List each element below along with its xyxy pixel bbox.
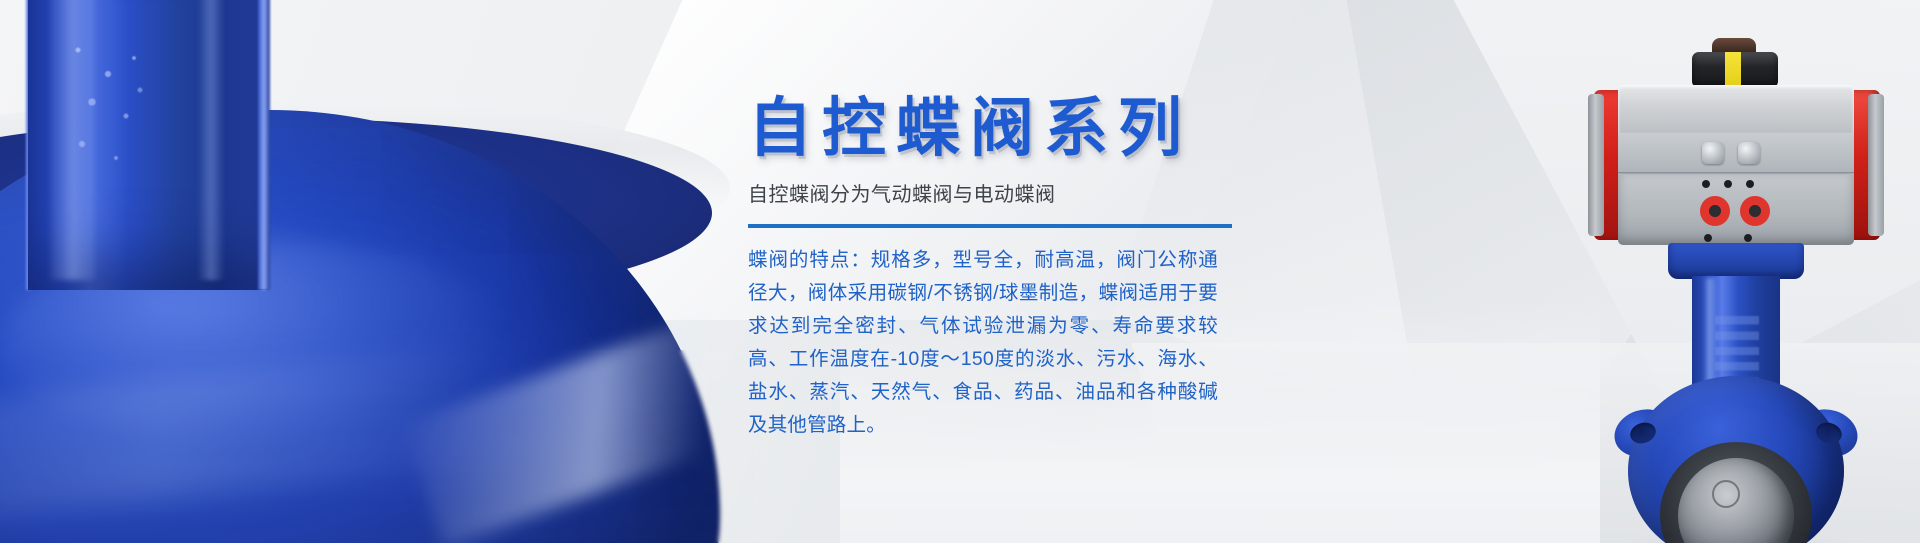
banner-description: 蝶阀的特点：规格多，型号全，耐高温，阀门公称通径大，阀体采用碳钢/不锈钢/球墨制… [748,244,1218,442]
actuator-end-plate-left [1588,94,1604,236]
product-banner: 自控蝶阀系列 自控蝶阀分为气动蝶阀与电动蝶阀 蝶阀的特点：规格多，型号全，耐高温… [0,0,1920,543]
pneumatic-butterfly-valve-image [1552,38,1920,543]
air-port-left [1700,196,1730,226]
actuator-end-plate-right [1868,94,1884,236]
actuator-port-hole-2 [1724,180,1732,188]
position-indicator-yellow-marker [1725,52,1741,88]
valve-disc-marking [1712,480,1740,508]
blue-valve-photo [0,0,840,543]
actuator-body-lower [1618,175,1854,245]
actuator-body-middle [1618,133,1854,175]
valve-stem-texture [64,40,154,190]
air-port-right [1740,196,1770,226]
divider-rule [748,224,1232,228]
page-title: 自控蝶阀系列 [748,96,1468,160]
valve-stem-edge-right [258,0,270,290]
banner-copy: 自控蝶阀系列 自控蝶阀分为气动蝶阀与电动蝶阀 蝶阀的特点：规格多，型号全，耐高温… [748,96,1468,442]
actuator-body-upper [1618,85,1854,133]
actuator-bolt-right [1738,142,1760,164]
valve-stem-highlight-secondary [198,0,224,280]
actuator-port-hole-4 [1704,234,1712,242]
actuator-port-hole-3 [1746,180,1754,188]
actuator-port-hole-5 [1744,234,1752,242]
actuator-port-hole-1 [1702,180,1710,188]
valve-depth-blur [0,350,760,543]
product-shadow [1612,538,1862,543]
actuator-bolt-left [1702,142,1724,164]
mounting-bracket [1668,243,1804,279]
banner-subtitle: 自控蝶阀分为气动蝶阀与电动蝶阀 [748,180,1468,210]
